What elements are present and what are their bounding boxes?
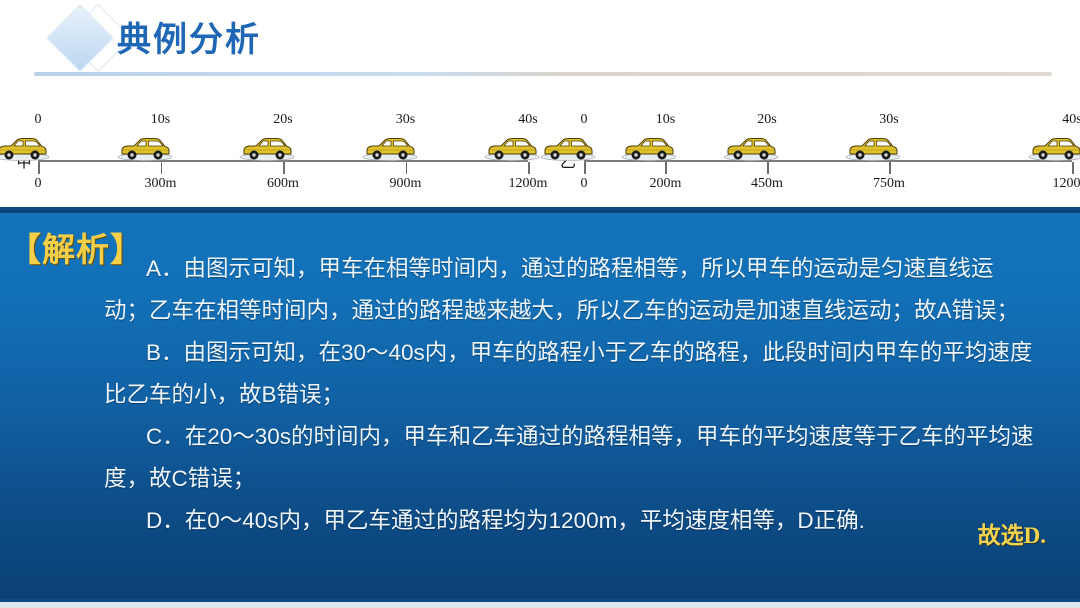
track-yi: 乙 0010s200m20s450m30s750m40s1200m <box>552 108 1072 200</box>
header-divider <box>34 72 1052 76</box>
car-icon <box>0 137 50 161</box>
axis-tick <box>665 162 667 174</box>
time-label: 10s <box>656 112 675 128</box>
motion-figure: 甲 0010s300m20s600m30s900m40s1200m 乙 0010… <box>0 108 1080 200</box>
time-label: 30s <box>879 112 898 128</box>
axis-tick <box>889 162 891 174</box>
distance-label: 300m <box>145 176 177 192</box>
car-icon <box>117 137 173 161</box>
time-label: 0 <box>35 112 42 128</box>
analysis-paragraph-b: B．由图示可知，在30～40s内，甲车的路程小于乙车的路程，此段时间内甲车的平均… <box>104 332 1034 416</box>
axis-tick <box>1072 162 1074 174</box>
car-icon <box>1028 137 1080 161</box>
time-label: 40s <box>518 112 537 128</box>
car-icon <box>484 137 540 161</box>
distance-label: 1200m <box>1053 176 1080 192</box>
car-icon <box>723 137 779 161</box>
axis-tick <box>767 162 769 174</box>
time-label: 0 <box>581 112 588 128</box>
panel-top-accent <box>0 210 1080 213</box>
diamond-decoration-icon <box>28 8 130 70</box>
distance-label: 0 <box>35 176 42 192</box>
axis-tick <box>528 162 530 174</box>
time-label: 10s <box>151 112 170 128</box>
car-icon <box>540 137 596 161</box>
track-jia: 甲 0010s300m20s600m30s900m40s1200m <box>8 108 532 200</box>
distance-label: 200m <box>650 176 682 192</box>
distance-label: 600m <box>267 176 299 192</box>
distance-label: 450m <box>751 176 783 192</box>
car-icon <box>362 137 418 161</box>
time-label: 20s <box>757 112 776 128</box>
conclusion-answer: 故选D. <box>978 516 1046 550</box>
axis-tick <box>38 162 40 174</box>
analysis-panel: 【解析】 A．由图示可知，甲车在相等时间内，通过的路程相等，所以甲车的运动是匀速… <box>0 207 1080 602</box>
car-icon <box>621 137 677 161</box>
analysis-body: A．由图示可知，甲车在相等时间内，通过的路程相等，所以甲车的运动是匀速直线运动；… <box>104 248 1034 542</box>
bottom-strip <box>0 602 1080 608</box>
car-icon <box>239 137 295 161</box>
time-label: 40s <box>1062 112 1080 128</box>
distance-label: 750m <box>873 176 905 192</box>
analysis-paragraph-c: C．在20～30s的时间内，甲车和乙车通过的路程相等，甲车的平均速度等于乙车的平… <box>104 416 1034 500</box>
axis-tick <box>584 162 586 174</box>
page-header: 典例分析 <box>0 0 1080 86</box>
axis-tick <box>283 162 285 174</box>
time-label: 30s <box>396 112 415 128</box>
axis-tick <box>406 162 408 174</box>
analysis-paragraph-a: A．由图示可知，甲车在相等时间内，通过的路程相等，所以甲车的运动是匀速直线运动；… <box>104 248 1034 332</box>
analysis-paragraph-d: D．在0～40s内，甲乙车通过的路程均为1200m，平均速度相等，D正确. <box>104 500 1034 542</box>
distance-label: 0 <box>581 176 588 192</box>
distance-label: 900m <box>390 176 422 192</box>
car-icon <box>845 137 901 161</box>
time-label: 20s <box>273 112 292 128</box>
distance-label: 1200m <box>509 176 548 192</box>
page-title: 典例分析 <box>117 12 261 61</box>
axis-tick <box>161 162 163 174</box>
